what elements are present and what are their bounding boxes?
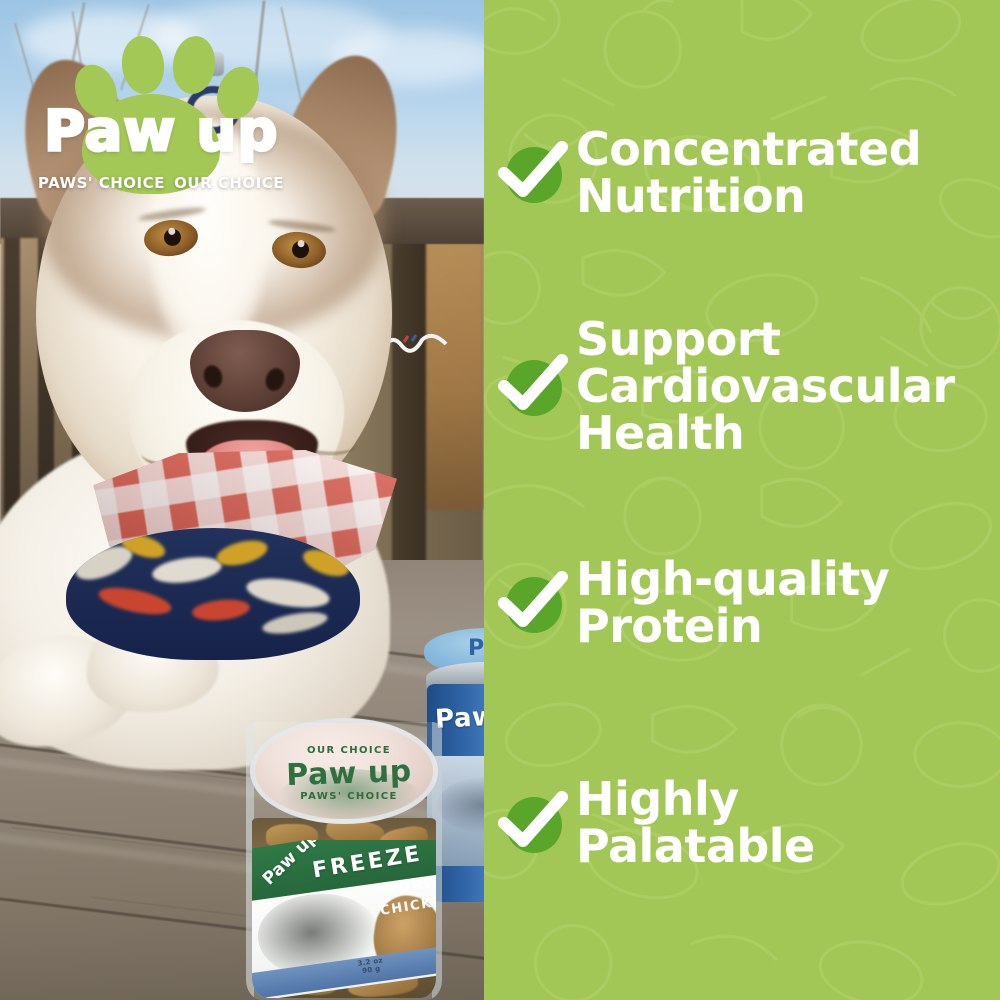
lid-brand: Paw up (254, 753, 438, 795)
feature-label: Highly Palatable (576, 776, 815, 870)
check-icon (496, 567, 568, 639)
tagline-paws-choice: PAWS' CHOICE (38, 174, 165, 192)
dog-harness (66, 528, 360, 660)
paw-toe-icon (119, 34, 167, 96)
brand-logo: Paw up PAWS' CHOICE OUR CHOICE (40, 22, 280, 202)
feature-item-cardiovascular-health: Support Cardiovascular Health (496, 316, 955, 457)
feature-item-high-quality-protein: High-quality Protein (496, 556, 889, 650)
feature-label: Support Cardiovascular Health (576, 316, 955, 457)
logo-wordmark: Paw up (44, 104, 280, 160)
jar-lid-brand: P (468, 636, 484, 661)
features-panel: Concentrated Nutrition Support Cardiovas… (484, 0, 1000, 1000)
paw-toe-icon (170, 34, 219, 97)
logo-tagline: PAWS' CHOICE OUR CHOICE (38, 174, 284, 192)
check-icon (496, 137, 568, 209)
product-lifestyle-photo: P Paw up (0, 0, 484, 1000)
check-icon (496, 787, 568, 859)
feature-item-highly-palatable: Highly Palatable (496, 776, 815, 870)
feature-item-concentrated-nutrition: Concentrated Nutrition (496, 126, 921, 220)
jar-body: Paw up FREEZE DRIED CHICKEN 3.2 oz 90 g (252, 818, 436, 998)
jar-lid: OUR CHOICE Paw up PAWS' CHOICE (250, 718, 438, 824)
tagline-our-choice: OUR CHOICE (174, 174, 284, 192)
feature-label: High-quality Protein (576, 556, 889, 650)
feature-label: Concentrated Nutrition (576, 126, 921, 220)
product-feature-banner: P Paw up (0, 0, 1000, 1000)
product-jar-front: Paw up FREEZE DRIED CHICKEN 3.2 oz 90 g … (246, 722, 442, 1000)
check-icon (496, 350, 568, 422)
lid-paws-choice: PAWS' CHOICE (255, 791, 438, 802)
jar-front-label: Paw up FREEZE DRIED CHICKEN 3.2 oz 90 g (252, 840, 436, 998)
